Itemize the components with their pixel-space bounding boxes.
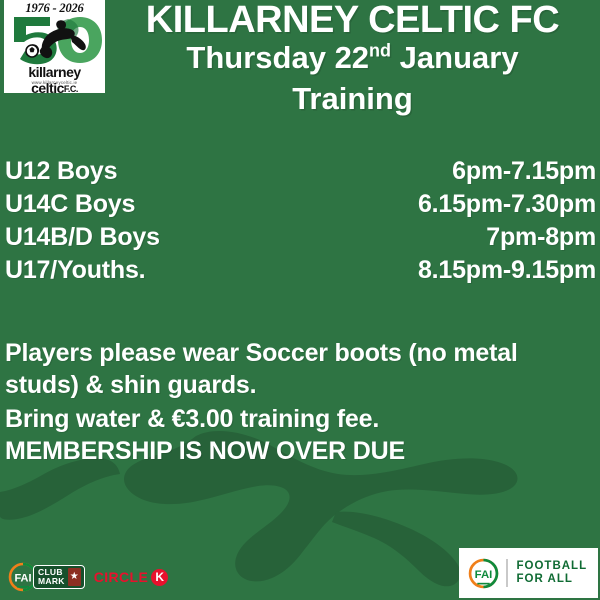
schedule-row: U14C Boys 6.15pm-7.30pm	[5, 190, 596, 223]
fai-clubmark-badge: FAI CLUB MARK ★	[8, 562, 85, 592]
schedule-group: U14C Boys	[5, 190, 135, 219]
circle-k-logo: CIRCLE K	[94, 569, 169, 586]
fai-logo-icon: FAI	[468, 558, 499, 589]
club-mark-text: CLUB MARK	[38, 568, 65, 586]
svg-text:FAI: FAI	[14, 573, 31, 585]
event-date-ordinal: nd	[369, 41, 391, 61]
club-mark-star-icon: ★	[68, 568, 81, 586]
notice-block: Players please wear Soccer boots (no met…	[5, 337, 583, 467]
kit-notice: Players please wear Soccer boots (no met…	[5, 337, 583, 401]
svg-text:FAI: FAI	[475, 569, 493, 581]
football-for-all-wordmark: FOOTBALL FOR ALL	[517, 560, 588, 586]
page-title: KILLARNEY CELTIC FC	[105, 0, 600, 42]
sponsor-strip: FAI CLUB MARK ★ CIRCLE K	[8, 562, 168, 592]
schedule-time: 6.15pm-7.30pm	[418, 190, 596, 219]
event-session-label: Training	[105, 80, 600, 118]
membership-notice: MEMBERSHIP IS NOW OVER DUE	[5, 435, 583, 467]
circle-k-mark-icon: K	[151, 569, 168, 586]
schedule-group: U17/Youths.	[5, 256, 145, 285]
training-schedule: U12 Boys 6pm-7.15pm U14C Boys 6.15pm-7.3…	[5, 157, 596, 289]
crest-club-name: killarney celticF.C.	[4, 64, 105, 93]
circle-k-wordmark: CIRCLE	[94, 569, 149, 585]
club-crest: 1976 - 2026 killarney celticF.C. www.kil…	[4, 0, 105, 93]
ffa-line-1: FOOTBALL	[517, 560, 588, 573]
schedule-time: 6pm-7.15pm	[452, 157, 596, 186]
club-mark-badge: CLUB MARK ★	[33, 565, 85, 589]
schedule-row: U12 Boys 6pm-7.15pm	[5, 157, 596, 190]
crest-website: www.killarneyceltic.ie	[4, 80, 105, 85]
schedule-row: U14B/D Boys 7pm-8pm	[5, 223, 596, 256]
event-date: Thursday 22nd January	[105, 39, 600, 77]
event-date-daynum: Thursday 22	[186, 40, 369, 75]
ffa-line-2: FOR ALL	[517, 573, 588, 586]
event-date-month: January	[400, 40, 519, 75]
schedule-group: U14B/D Boys	[5, 223, 160, 252]
crest-club-suffix: F.C.	[64, 84, 78, 93]
schedule-row: U17/Youths. 8.15pm-9.15pm	[5, 256, 596, 289]
kit-notice-line-1: Players please wear Soccer boots (no met…	[5, 337, 583, 369]
schedule-group: U12 Boys	[5, 157, 117, 186]
fee-notice: Bring water & €3.00 training fee.	[5, 403, 583, 435]
training-poster: 1976 - 2026 killarney celticF.C. www.kil…	[0, 0, 600, 600]
kit-notice-line-2: studs) & shin guards.	[5, 369, 583, 401]
schedule-time: 8.15pm-9.15pm	[418, 256, 596, 285]
ffa-divider	[506, 559, 508, 587]
schedule-time: 7pm-8pm	[486, 223, 596, 252]
football-for-all-panel: FAI FOOTBALL FOR ALL	[459, 548, 598, 598]
crest-artwork-50-with-player	[6, 13, 103, 65]
club-mark-line-2: MARK	[38, 577, 65, 586]
